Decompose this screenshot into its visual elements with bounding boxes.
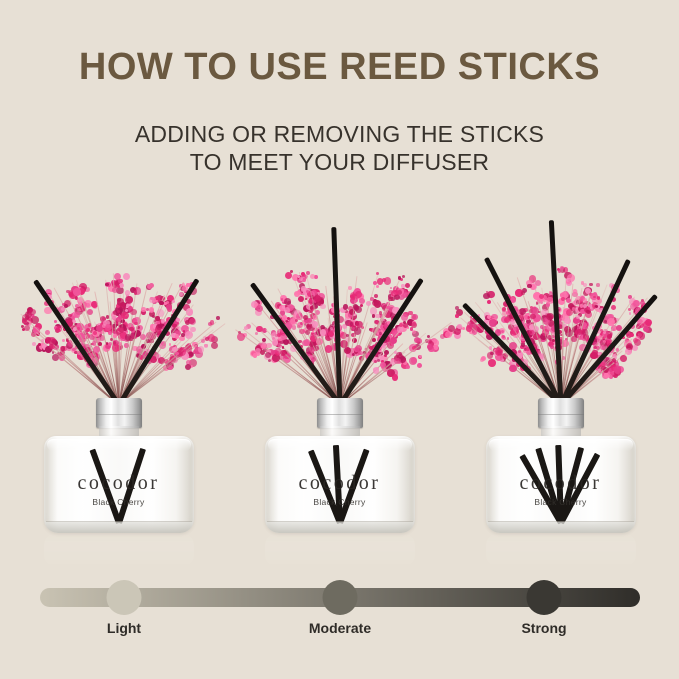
blossom — [24, 323, 27, 326]
blossom — [521, 291, 525, 295]
blossom — [629, 312, 632, 315]
slider-dot-light[interactable] — [107, 580, 142, 615]
blossom — [377, 359, 380, 362]
product-moderate: cocodorBlack Cherry — [227, 205, 452, 565]
blossom — [72, 348, 75, 351]
scent-label: Black Cherry — [265, 497, 415, 507]
blossom — [244, 326, 249, 331]
blossom — [352, 327, 355, 330]
blossom — [402, 275, 405, 278]
blossom — [487, 300, 491, 304]
blossom — [607, 334, 612, 339]
brand-label: cocodor — [265, 472, 415, 495]
blossom — [198, 346, 205, 353]
blossom — [172, 300, 175, 303]
bottle-cap — [317, 398, 363, 428]
glass-highlight — [268, 439, 412, 451]
product-strong: cocodorBlack Cherry — [448, 205, 673, 565]
blossom — [529, 331, 532, 334]
blossom — [253, 353, 257, 357]
blossom — [64, 304, 68, 308]
blossom — [366, 301, 371, 306]
diffuser-bottle: cocodorBlack Cherry — [486, 398, 636, 533]
blossom — [311, 332, 314, 335]
blossom — [355, 299, 358, 302]
blossom — [466, 325, 473, 332]
diffuser-bottle: cocodorBlack Cherry — [44, 398, 194, 533]
intensity-slider[interactable]: LightModerateStrong — [0, 575, 679, 645]
blossom — [374, 294, 378, 298]
blossom — [490, 352, 494, 356]
blossom — [298, 340, 302, 344]
blossom — [116, 317, 121, 322]
blossom — [117, 298, 121, 302]
blossom — [272, 339, 279, 346]
blossom — [507, 337, 510, 340]
bottle-glass: cocodorBlack Cherry — [44, 436, 194, 533]
blossom — [88, 323, 92, 327]
blossom — [343, 304, 348, 309]
bottle-reflection — [486, 533, 636, 567]
blossom — [411, 322, 417, 328]
blossom — [189, 318, 196, 325]
blossom — [409, 357, 417, 365]
blossom — [314, 295, 321, 302]
blossom — [629, 333, 634, 338]
blossom — [310, 310, 313, 313]
blossom — [414, 337, 420, 343]
bottle-base — [45, 522, 193, 533]
blossom — [204, 344, 209, 349]
blossom — [320, 304, 326, 310]
blossom — [141, 307, 146, 312]
blossom — [24, 325, 30, 331]
blossom — [216, 316, 220, 320]
blossom — [359, 298, 365, 304]
slider-label-strong: Strong — [521, 620, 566, 636]
blossom — [62, 339, 65, 342]
blossom — [405, 283, 410, 288]
blossom — [290, 270, 293, 273]
blossom — [48, 337, 56, 345]
page-title: HOW TO USE REED STICKS — [0, 48, 679, 88]
blossom — [282, 346, 285, 349]
blossom — [397, 326, 404, 333]
blossom — [275, 348, 281, 354]
blossom — [596, 283, 600, 287]
blossom — [406, 365, 410, 369]
blossom — [61, 346, 66, 351]
blossom — [108, 331, 112, 335]
blossom — [123, 273, 130, 280]
blossom — [310, 274, 315, 279]
blossom — [576, 315, 580, 319]
blossom — [387, 370, 394, 377]
blossom — [189, 352, 194, 357]
blossom — [489, 346, 493, 350]
blossom — [455, 314, 459, 318]
blossom — [530, 314, 536, 320]
blossom — [372, 338, 376, 342]
blossom — [125, 296, 133, 304]
blossom — [628, 308, 631, 311]
diffuser-bottle: cocodorBlack Cherry — [265, 398, 415, 533]
blossom — [417, 363, 423, 369]
blossom — [283, 339, 289, 345]
product-light: cocodorBlack Cherry — [6, 205, 231, 565]
blossom — [106, 324, 110, 328]
blossom — [121, 312, 129, 320]
blossom — [348, 286, 352, 290]
blossom — [32, 315, 35, 318]
blossom — [74, 312, 79, 317]
blossom — [603, 331, 606, 334]
blossom — [462, 327, 465, 330]
bottle-base — [266, 522, 414, 533]
blossom — [38, 343, 41, 346]
blossom — [29, 309, 36, 316]
blossom — [298, 296, 304, 302]
blossom — [390, 287, 393, 290]
blossom — [611, 305, 616, 310]
blossom — [587, 307, 590, 310]
blossom — [159, 301, 163, 305]
scent-label: Black Cherry — [486, 497, 636, 507]
blossom — [292, 325, 297, 330]
blossom — [185, 364, 191, 370]
blossom — [116, 313, 119, 316]
blossom — [130, 309, 136, 315]
bottle-reflection — [265, 533, 415, 567]
blossom — [284, 298, 291, 305]
blossom — [155, 316, 159, 320]
blossom — [595, 305, 598, 308]
blossom — [105, 283, 109, 287]
blossom — [277, 333, 281, 337]
blossom — [504, 317, 510, 323]
blossom — [615, 356, 618, 359]
glass-highlight — [47, 439, 191, 451]
product-row: cocodorBlack CherrycocodorBlack Cherryco… — [0, 205, 679, 565]
bottle-base — [487, 522, 635, 533]
bottle-cap — [538, 398, 584, 428]
slider-dot-strong[interactable] — [527, 580, 562, 615]
blossom — [434, 345, 439, 350]
scent-label: Black Cherry — [44, 497, 194, 507]
blossom — [314, 275, 318, 279]
blossom — [330, 327, 333, 330]
brand-label: cocodor — [44, 472, 194, 495]
bottle-glass: cocodorBlack Cherry — [486, 436, 636, 533]
blossom — [394, 358, 400, 364]
blossom — [614, 366, 621, 373]
blossom — [320, 329, 327, 336]
blossom — [384, 277, 392, 285]
blossom — [403, 321, 406, 324]
blossom — [93, 346, 100, 353]
blossom — [119, 327, 125, 333]
blossom — [577, 329, 583, 335]
blossom — [564, 318, 570, 324]
blossom — [237, 333, 245, 341]
blossom — [483, 293, 490, 300]
blossom — [481, 356, 486, 361]
reed-bouquet — [6, 205, 231, 405]
slider-label-light: Light — [107, 620, 141, 636]
blossom — [384, 354, 387, 357]
blossom — [346, 334, 349, 337]
blossom — [45, 330, 50, 335]
slider-dot-moderate[interactable] — [323, 580, 358, 615]
blossom — [592, 350, 597, 355]
blossom — [21, 325, 24, 328]
blossom — [558, 270, 561, 273]
blossom — [390, 337, 397, 344]
bottle-glass: cocodorBlack Cherry — [265, 436, 415, 533]
blossom — [527, 284, 532, 289]
subtitle-line-1: ADDING OR REMOVING THE STICKS — [0, 120, 679, 148]
blossom — [457, 324, 462, 329]
bottle-cap — [96, 398, 142, 428]
blossom — [488, 359, 496, 367]
blossom — [313, 315, 317, 319]
blossom — [561, 297, 565, 301]
blossom — [376, 285, 379, 288]
blossom — [399, 352, 403, 356]
page-subtitle: ADDING OR REMOVING THE STICKS TO MEET YO… — [0, 120, 679, 176]
blossom — [376, 272, 379, 275]
blossom — [566, 278, 570, 282]
brand-label: cocodor — [486, 472, 636, 495]
blossom — [211, 342, 218, 349]
blossom — [355, 306, 362, 313]
bottle-reflection — [44, 533, 194, 567]
blossom — [312, 321, 319, 328]
blossom — [403, 323, 408, 328]
blossom — [489, 319, 497, 327]
blossom — [281, 298, 284, 301]
blossom — [294, 291, 300, 297]
reed-bouquet — [448, 205, 673, 405]
blossom — [328, 331, 334, 337]
blossom — [589, 283, 593, 287]
blossom — [27, 311, 30, 314]
blossom — [571, 336, 576, 341]
subtitle-line-2: TO MEET YOUR DIFFUSER — [0, 148, 679, 176]
blossom — [73, 288, 81, 296]
blossom — [374, 300, 382, 308]
blossom — [377, 278, 384, 285]
blossom — [620, 355, 627, 362]
reed-bouquet — [227, 205, 452, 405]
infographic-canvas: HOW TO USE REED STICKS ADDING OR REMOVIN… — [0, 0, 679, 679]
blossom — [581, 281, 585, 285]
blossom — [266, 343, 271, 348]
blossom — [597, 297, 600, 300]
blossom — [54, 320, 57, 323]
blossom — [497, 330, 500, 333]
blossom — [419, 355, 422, 358]
blossom — [304, 339, 310, 345]
slider-label-moderate: Moderate — [309, 620, 371, 636]
blossom — [106, 315, 110, 319]
